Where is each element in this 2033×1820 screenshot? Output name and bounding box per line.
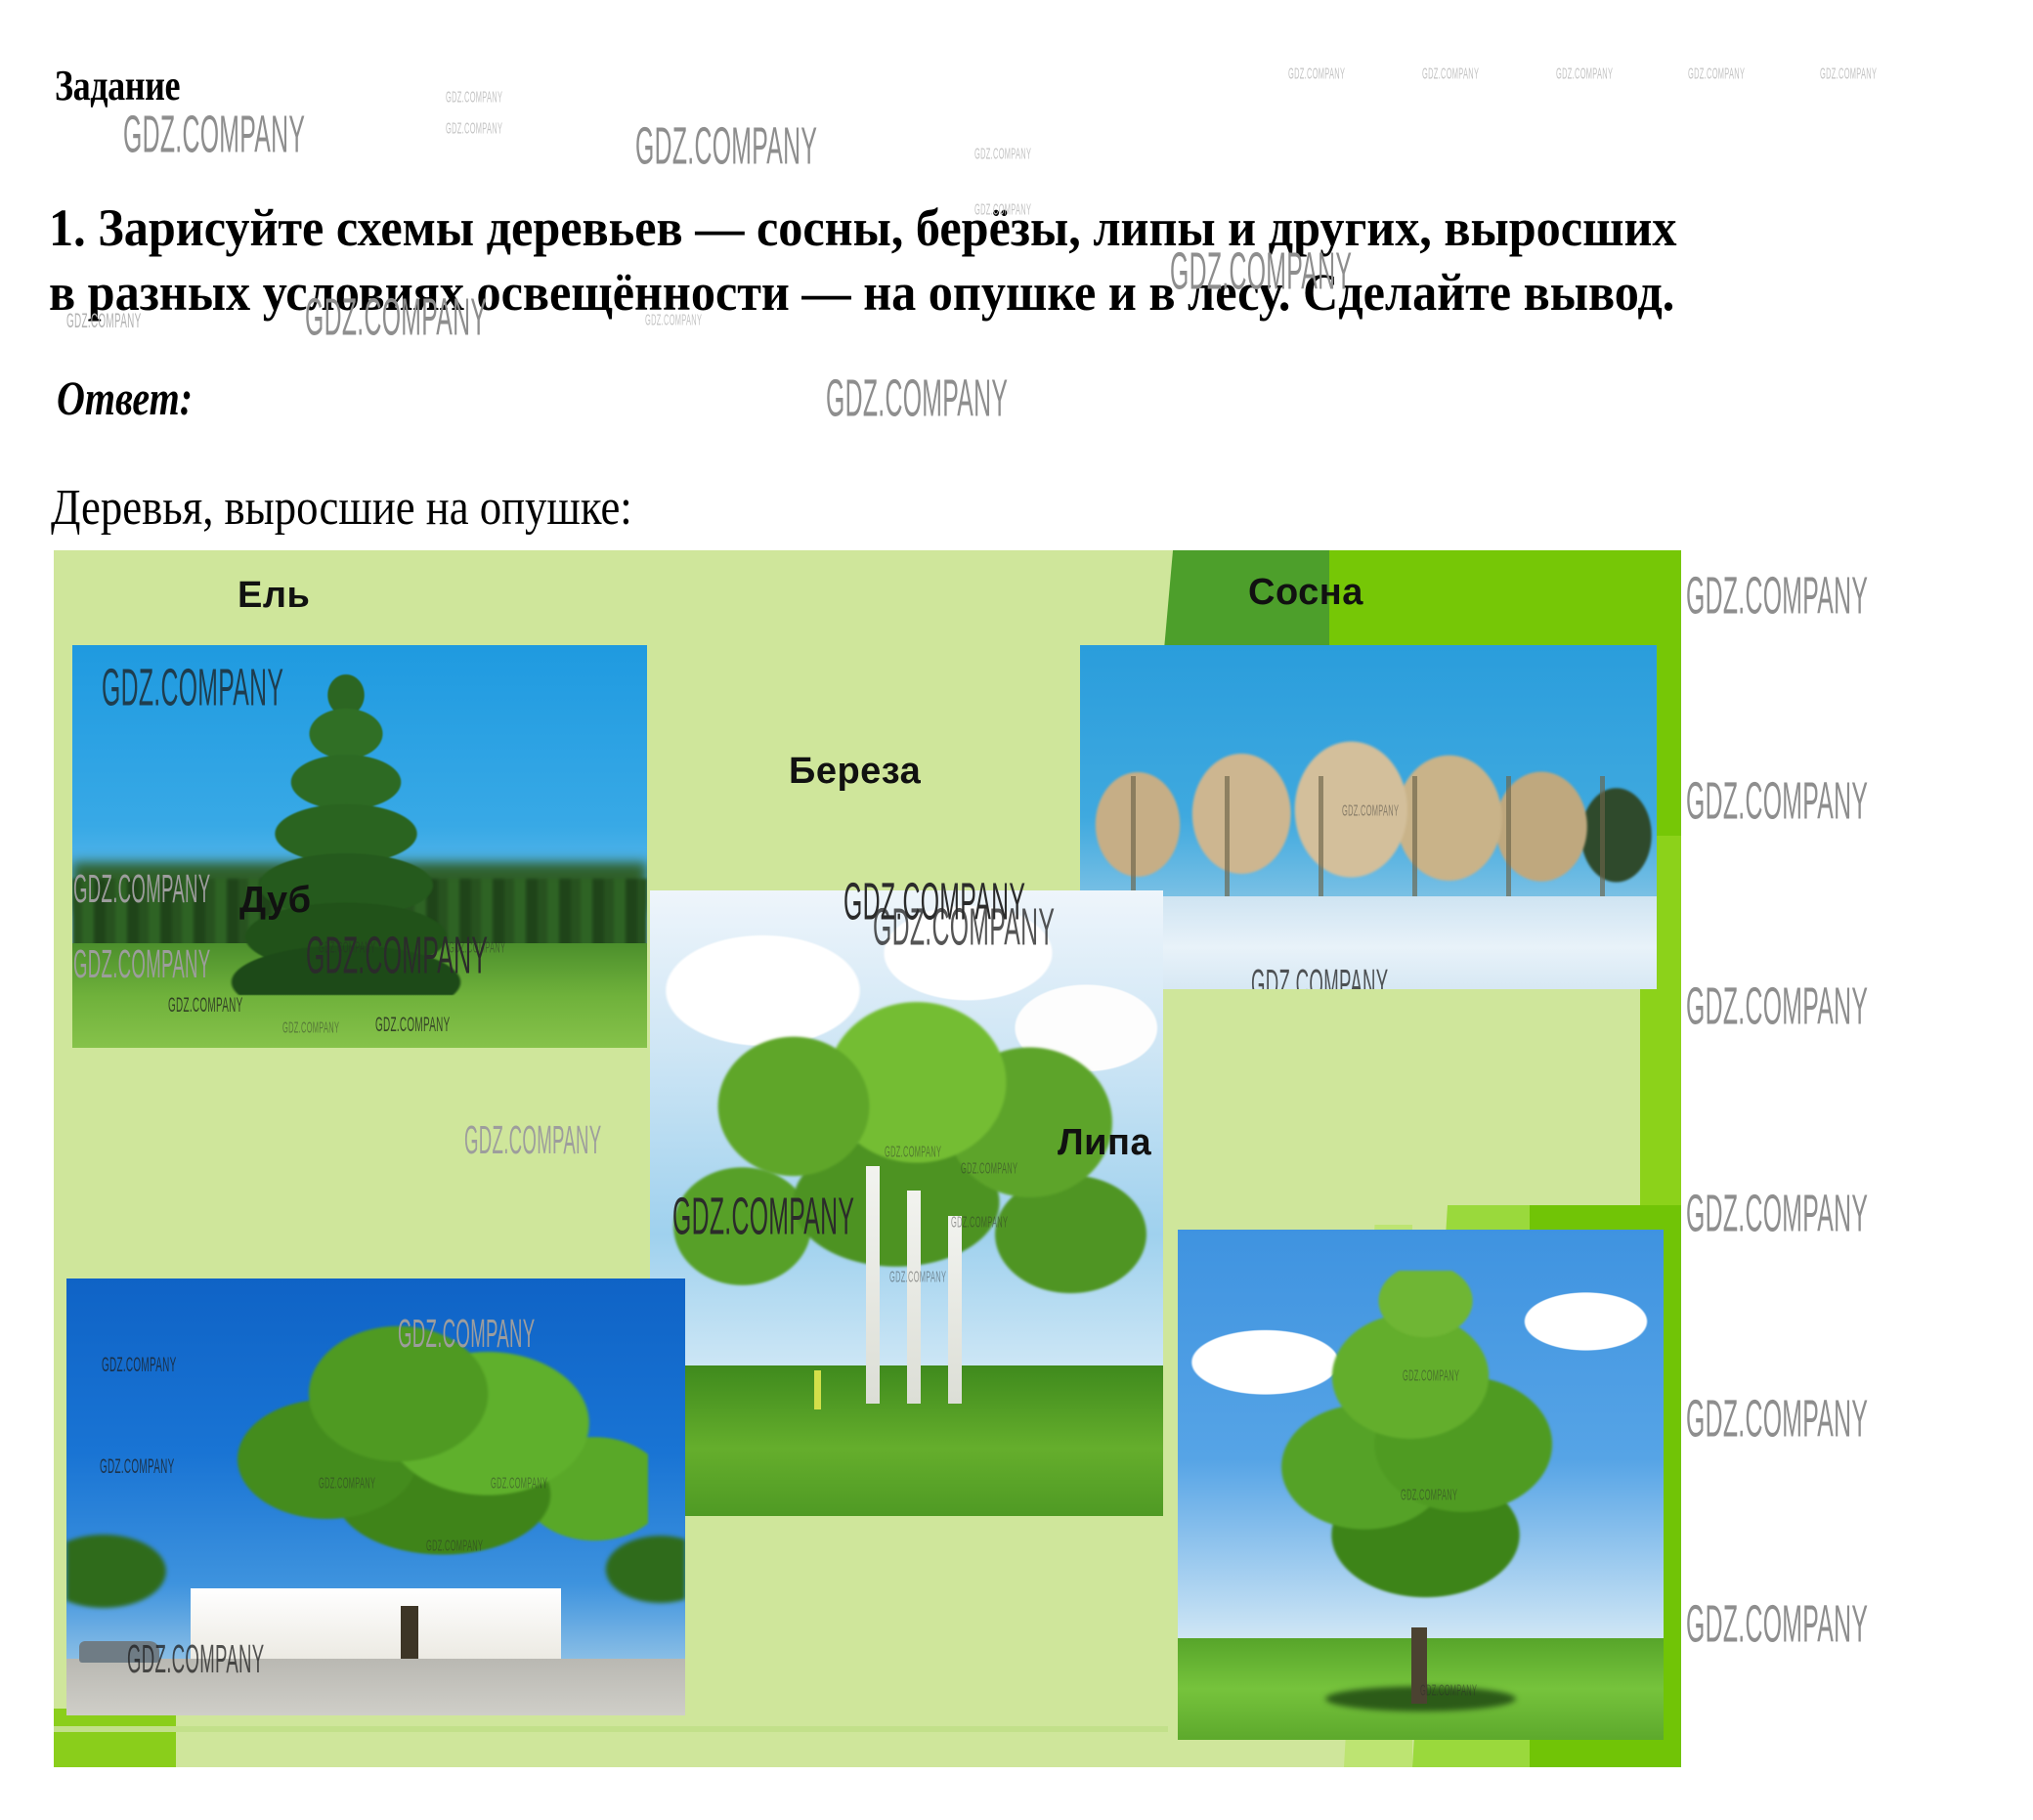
photo-pine: GDZ.COMPANY GDZ.COMPANY: [1080, 645, 1657, 989]
photo-oak: GDZ.COMPANY GDZ.COMPANY GDZ.COMPANY GDZ.…: [66, 1278, 685, 1715]
section-subtitle: Деревья, выросшие на опушке:: [51, 479, 632, 537]
watermark: GDZ.COMPANY: [446, 119, 502, 137]
question-line-1: 1. Зарисуйте схемы деревьев — сосны, бер…: [49, 195, 1858, 260]
birch-trunk: [866, 1166, 880, 1404]
birch-trunk: [907, 1191, 921, 1404]
oak-car: [79, 1641, 159, 1663]
question-text: 1. Зарисуйте схемы деревьев — сосны, бер…: [49, 195, 1858, 325]
answer-label: Ответ:: [57, 369, 193, 426]
watermark: GDZ.COMPANY: [826, 369, 1008, 429]
watermark: GDZ.COMPANY: [635, 117, 817, 177]
watermark: GDZ.COMPANY: [123, 106, 305, 165]
photo-label-oak: Дуб: [239, 880, 312, 922]
linden-canopy: [1236, 1271, 1616, 1648]
watermark: GDZ.COMPANY: [1288, 65, 1345, 82]
photo-spruce: GDZ.COMPANY GDZ.COMPANY GDZ.COMPANY GDZ.…: [72, 645, 647, 1048]
birch-post: [814, 1370, 821, 1409]
pine-snow-ground: [1080, 896, 1657, 989]
oak-road: [66, 1659, 685, 1715]
decor-corner-green: [54, 1709, 176, 1767]
birch-trunk: [948, 1216, 962, 1404]
watermark: GDZ.COMPANY: [1422, 65, 1479, 82]
decor-hairline: [54, 1726, 1168, 1732]
oak-canopy: [202, 1322, 648, 1620]
watermark: GDZ.COMPANY: [1686, 1390, 1868, 1450]
photo-label-birch: Береза: [789, 751, 921, 793]
watermark: GDZ.COMPANY: [1686, 1185, 1868, 1244]
watermark: GDZ.COMPANY: [464, 1119, 602, 1164]
question-line-2: в разных условиях освещённости — на опуш…: [49, 260, 1858, 325]
oak-building: [191, 1588, 562, 1659]
photo-label-spruce: Ель: [238, 575, 310, 617]
watermark: GDZ.COMPANY: [974, 145, 1031, 162]
watermark: GDZ.COMPANY: [1688, 65, 1745, 82]
watermark: GDZ.COMPANY: [1686, 772, 1868, 832]
watermark: GDZ.COMPANY: [1820, 65, 1877, 82]
photo-label-linden: Липа: [1058, 1122, 1151, 1164]
watermark: GDZ.COMPANY: [446, 88, 502, 106]
watermark: GDZ.COMPANY: [1556, 65, 1613, 82]
photo-linden: GDZ.COMPANY GDZ.COMPANY GDZ.COMPANY: [1178, 1230, 1664, 1740]
watermark: GDZ.COMPANY: [1686, 567, 1868, 627]
photo-birch: GDZ.COMPANY GDZ.COMPANY GDZ.COMPANY GDZ.…: [650, 890, 1163, 1516]
page-title: Задание: [55, 61, 180, 110]
linden-trunk: [1411, 1627, 1427, 1704]
trees-slide: Ель GDZ.COMPANY GDZ.COMPANY GDZ.COMPANY …: [54, 550, 1681, 1767]
photo-label-pine: Сосна: [1248, 572, 1363, 614]
spruce-tree: [185, 672, 507, 995]
watermark: GDZ.COMPANY: [1686, 977, 1868, 1037]
watermark: GDZ.COMPANY: [1686, 1595, 1868, 1655]
